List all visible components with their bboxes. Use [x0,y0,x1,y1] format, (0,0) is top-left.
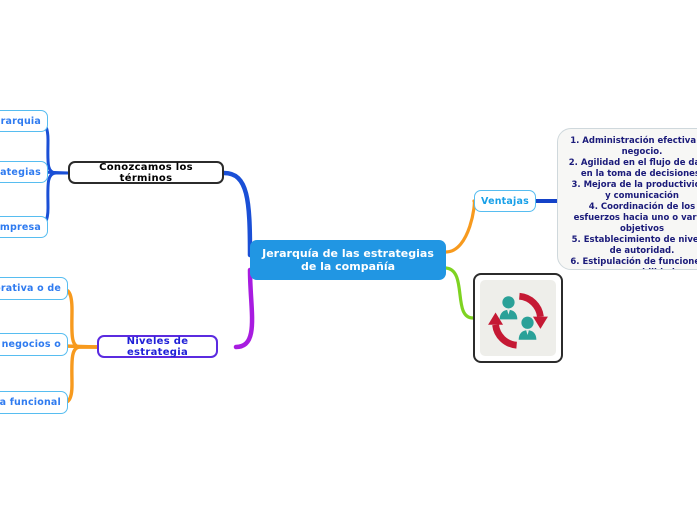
node-jerarquia[interactable]: Jerarquia [0,110,48,132]
edge-niveles-child-2 [64,346,97,347]
ventajas-list-item: 2. Agilidad en el flujo de datos en la t… [568,158,697,180]
ventajas-list-box: 1. Administración efectiva del negocio. … [557,128,697,270]
mindmap-canvas: Jerarquía de las estrategias de la compa… [0,0,697,520]
root-node[interactable]: Jerarquía de las estrategias de la compa… [250,240,446,280]
node-conozcamos-label: Conozcamos los términos [76,162,216,184]
ventajas-list-item: 6. Estipulación de funciones y responsab… [568,257,697,270]
node-estrategia-negocios[interactable]: Estrategia de negocios o [0,333,68,356]
node-jerarquia-label: Jerarquia [0,116,41,127]
node-empresa-label: Empresa [0,222,41,233]
node-estrategias-label: Estrategias [0,167,41,178]
ventajas-list: 1. Administración efectiva del negocio. … [568,136,697,270]
node-estrategia-negocios-label: Estrategia de negocios o [0,339,61,350]
edge-root-terminos [224,173,250,255]
node-estrategia-corporativa[interactable]: Estrategia corporativa o de [0,277,68,300]
ventajas-list-item: 1. Administración efectiva del negocio. [568,136,697,158]
node-ventajas[interactable]: Ventajas [474,190,536,212]
node-ventajas-label: Ventajas [481,196,529,207]
edge-root-imagen [446,268,473,318]
node-conozcamos-los-terminos[interactable]: Conozcamos los términos [68,161,224,184]
node-niveles-de-estrategia[interactable]: Niveles de estrategia [97,335,218,358]
ventajas-list-item: 3. Mejora de la productividad y comunica… [568,180,697,202]
node-estrategia-funcional[interactable]: Estrategia funcional [0,391,68,414]
node-estrategias[interactable]: Estrategias [0,161,48,183]
ventajas-list-item: 4. Coordinación de los esfuerzos hacia u… [568,202,697,235]
ventajas-list-item: 5. Establecimiento de niveles de autorid… [568,235,697,257]
root-node-label: Jerarquía de las estrategias de la compa… [258,247,438,273]
node-empresa[interactable]: Empresa [0,216,48,238]
node-estrategia-corporativa-label: Estrategia corporativa o de [0,283,61,294]
node-estrategia-funcional-label: Estrategia funcional [0,397,61,408]
node-niveles-label: Niveles de estrategia [105,336,210,358]
edge-root-ventajas [446,201,474,252]
image-inner [480,280,556,356]
node-image-card[interactable] [473,273,563,363]
people-rotation-icon [484,284,552,352]
edge-root-niveles [236,270,252,347]
